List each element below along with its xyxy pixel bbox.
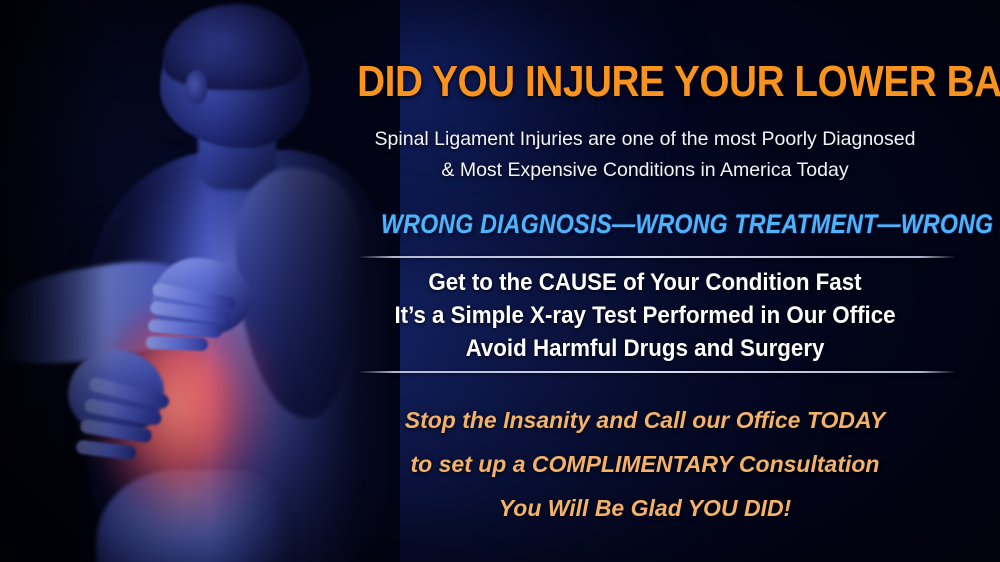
- divider-bottom: [358, 371, 956, 373]
- subheadline: Spinal Ligament Injuries are one of the …: [350, 124, 940, 186]
- advertisement-poster: DID YOU INJURE YOUR LOWER BACK? Spinal L…: [0, 0, 1000, 562]
- cta-line-2: to set up a COMPLIMENTARY Consultation: [330, 442, 960, 486]
- subheadline-line-1: Spinal Ligament Injuries are one of the …: [350, 124, 940, 155]
- call-to-action-block: Stop the Insanity and Call our Office TO…: [330, 398, 960, 530]
- text-content-area: DID YOU INJURE YOUR LOWER BACK? Spinal L…: [310, 0, 980, 562]
- cta-line-3: You Will Be Glad YOU DID!: [330, 486, 960, 530]
- divider-top: [358, 256, 956, 258]
- cta-line-1: Stop the Insanity and Call our Office TO…: [330, 398, 960, 442]
- benefits-block: Get to the CAUSE of Your Condition Fast …: [352, 266, 938, 365]
- subheadline-line-2: & Most Expensive Conditions in America T…: [350, 155, 940, 186]
- benefit-line-3: Avoid Harmful Drugs and Surgery: [352, 332, 938, 365]
- benefit-line-1: Get to the CAUSE of Your Condition Fast: [352, 266, 938, 299]
- wrong-diagnosis-banner: WRONG DIAGNOSIS—WRONG TREATMENT—WRONG RE…: [381, 208, 910, 240]
- page-title: DID YOU INJURE YOUR LOWER BACK?: [357, 58, 931, 106]
- benefit-line-2: It’s a Simple X-ray Test Performed in Ou…: [352, 299, 938, 332]
